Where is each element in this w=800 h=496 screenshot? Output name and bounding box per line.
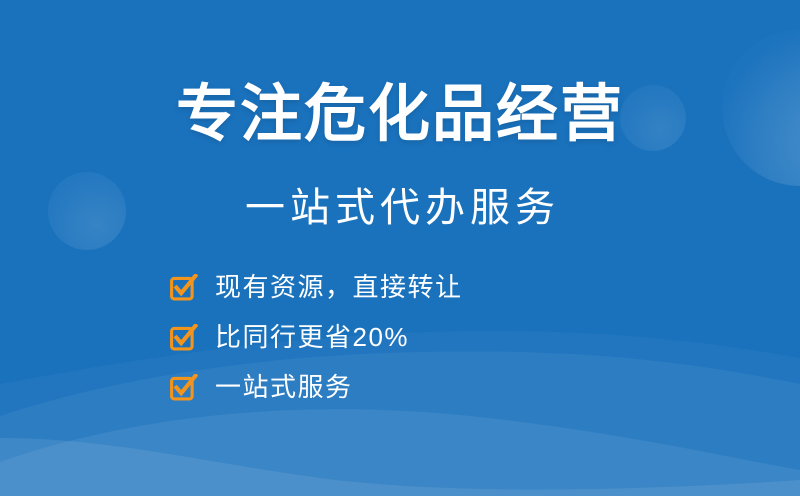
feature-item-label: 一站式服务 [215, 374, 353, 401]
feature-item-label: 现有资源，直接转让 [215, 274, 463, 301]
feature-item-3: 一站式服务 [170, 374, 650, 401]
checkbox-checked-icon [170, 274, 198, 301]
banner-content: 专注危化品经营 一站式代办服务 现有资源，直接转让 [0, 0, 800, 496]
feature-list: 现有资源，直接转让 比同行更省20% 一站式 [170, 274, 650, 424]
headline-title: 专注危化品经营 [0, 79, 800, 151]
feature-item-label: 比同行更省20% [215, 324, 409, 351]
promo-banner: 专注危化品经营 一站式代办服务 现有资源，直接转让 [0, 0, 800, 496]
checkbox-checked-icon [170, 374, 198, 401]
feature-item-2: 比同行更省20% [170, 324, 650, 351]
checkbox-checked-icon [170, 324, 198, 351]
feature-item-1: 现有资源，直接转让 [170, 274, 650, 301]
subheadline-text: 一站式代办服务 [0, 183, 800, 233]
